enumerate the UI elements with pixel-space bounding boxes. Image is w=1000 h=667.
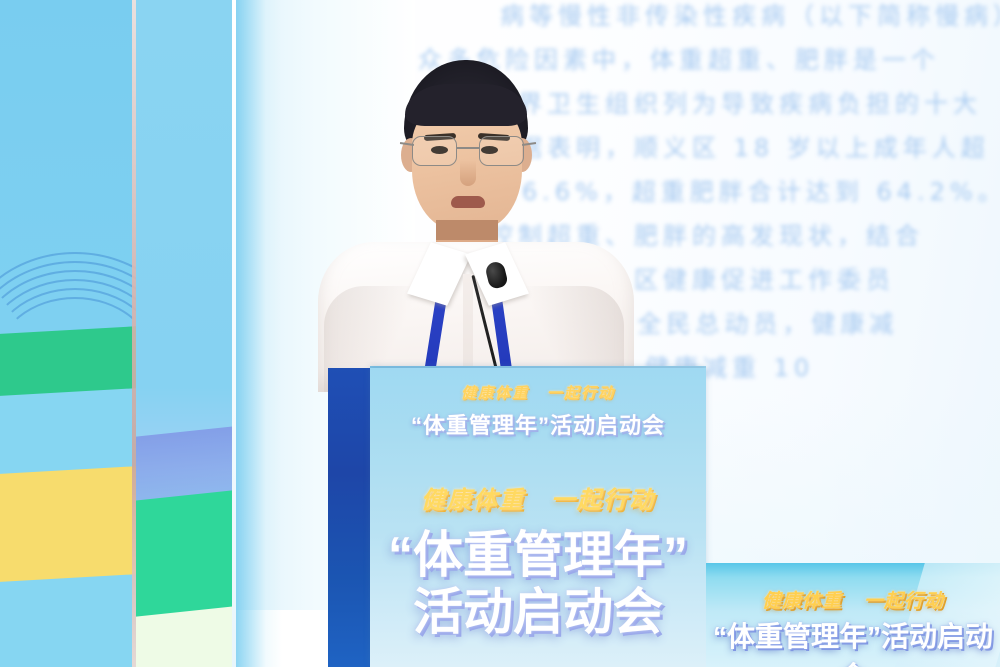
- podium-side-panel: [328, 368, 372, 667]
- podium-header-slogan-left: 健康体重: [461, 385, 529, 402]
- podium-main-slogan-right: 一起行动: [551, 487, 655, 514]
- screenshot-root: 病等慢性非传染性疾病（以下简称慢病）是疾 众多危险因素中，体重超重、肥胖是一个 …: [0, 0, 1000, 667]
- backdrop-panel-left: [0, 0, 136, 667]
- bottom-banner-slogan-left: 健康体重: [762, 591, 842, 612]
- podium-main-slogan-left: 健康体重: [421, 487, 525, 514]
- podium-main-title-line2: 活动启动会: [370, 586, 706, 639]
- projected-line-1: 病等慢性非传染性疾病（以下简称慢病）是疾: [300, 0, 1000, 38]
- backdrop-light-leak: [236, 0, 282, 667]
- podium-header-banner: 健康体重一起行动 “体重管理年”活动启动会: [370, 382, 706, 440]
- podium-header-slogan: 健康体重一起行动: [370, 382, 706, 403]
- podium-main-banner: 健康体重一起行动 “体重管理年” 活动启动会: [370, 480, 706, 639]
- podium-header-slogan-right: 一起行动: [547, 385, 615, 402]
- podium-main-slogan: 健康体重一起行动: [370, 480, 706, 515]
- speaker-figure: [300, 60, 660, 390]
- podium-front-panel: 健康体重一起行动 “体重管理年”活动启动会 健康体重一起行动 “体重管理年” 活…: [370, 368, 706, 667]
- speaker-hair-fringe: [405, 84, 527, 126]
- bottom-banner-slogan: 健康体重一起行动: [706, 586, 1000, 613]
- panel-band-cyan-lower: [0, 573, 136, 667]
- speaker-mouth: [451, 196, 485, 208]
- glasses-lens-left: [412, 136, 457, 166]
- glasses-lens-right: [479, 136, 524, 166]
- speaker-nose: [460, 160, 476, 186]
- bottom-banner-title: “体重管理年”活动启动会: [706, 615, 1000, 667]
- speaker-neck-shadow: [436, 220, 498, 240]
- backdrop-panel-mid: [136, 0, 236, 667]
- panel-arc-lines: [0, 252, 136, 382]
- panel-band-yellow: [0, 465, 136, 587]
- bottom-right-banner: 健康体重一起行动 “体重管理年”活动启动会: [706, 563, 1000, 667]
- podium-main-title-line1: “体重管理年”: [370, 529, 706, 582]
- podium-header-title: “体重管理年”活动启动会: [370, 408, 706, 440]
- glasses-bridge: [457, 147, 479, 149]
- bottom-banner-slogan-right: 一起行动: [864, 591, 944, 612]
